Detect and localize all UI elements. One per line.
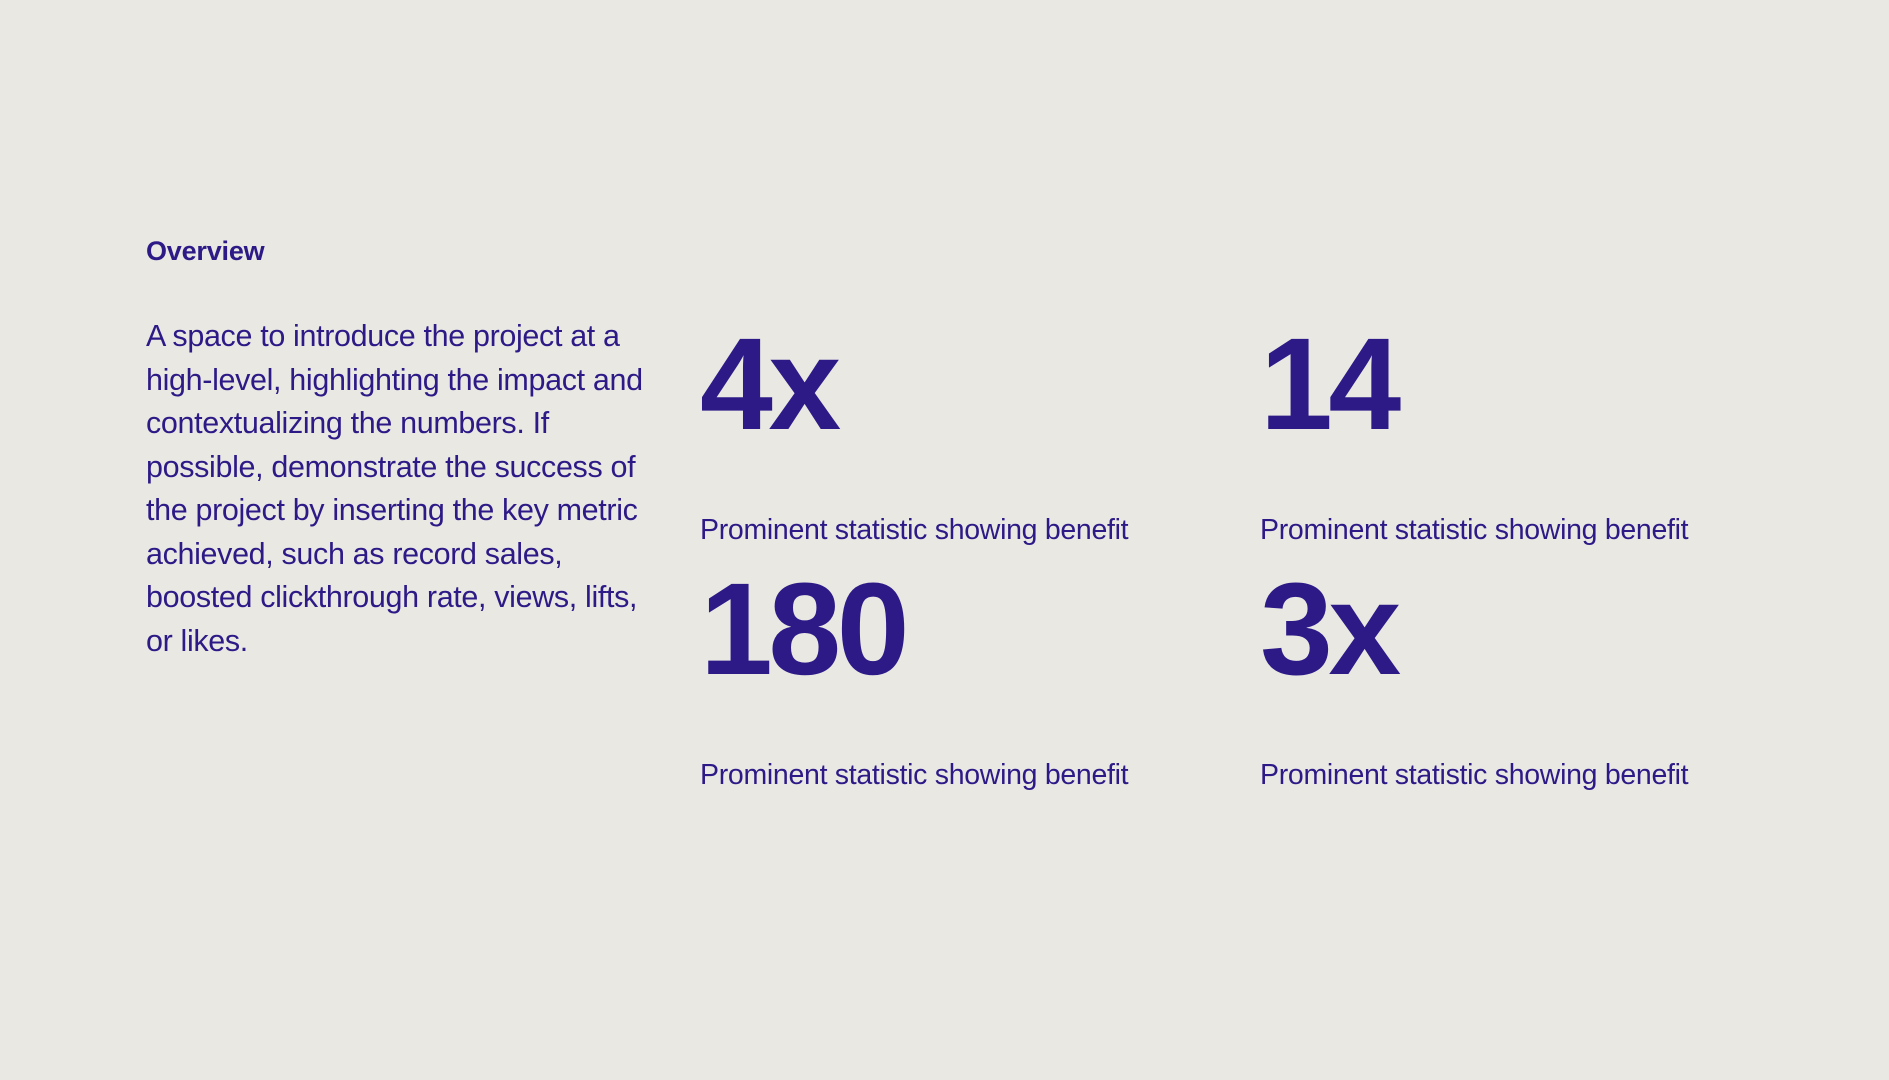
overview-body-text: A space to introduce the project at a hi…: [146, 315, 646, 663]
stat-caption-2: Prominent statistic showing benefit: [1260, 513, 1760, 547]
stat-card-3: 180 Prominent statistic showing benefit: [700, 570, 1260, 815]
stat-caption-3: Prominent statistic showing benefit: [700, 758, 1260, 792]
stat-value-4: 3x: [1260, 570, 1760, 702]
stat-caption-4: Prominent statistic showing benefit: [1260, 758, 1760, 792]
stat-caption-1: Prominent statistic showing benefit: [700, 513, 1260, 547]
overview-section: Overview A space to introduce the projec…: [146, 235, 656, 663]
stat-card-1: 4x Prominent statistic showing benefit: [700, 325, 1260, 570]
overview-heading: Overview: [146, 235, 656, 267]
stat-value-3: 180: [700, 570, 1260, 702]
stat-card-4: 3x Prominent statistic showing benefit: [1260, 570, 1760, 815]
statistics-grid: 4x Prominent statistic showing benefit 1…: [700, 325, 1760, 815]
stat-value-2: 14: [1260, 325, 1760, 457]
stat-value-1: 4x: [700, 325, 1260, 457]
stat-card-2: 14 Prominent statistic showing benefit: [1260, 325, 1760, 570]
overview-stats-slide: Overview A space to introduce the projec…: [0, 0, 1889, 1080]
